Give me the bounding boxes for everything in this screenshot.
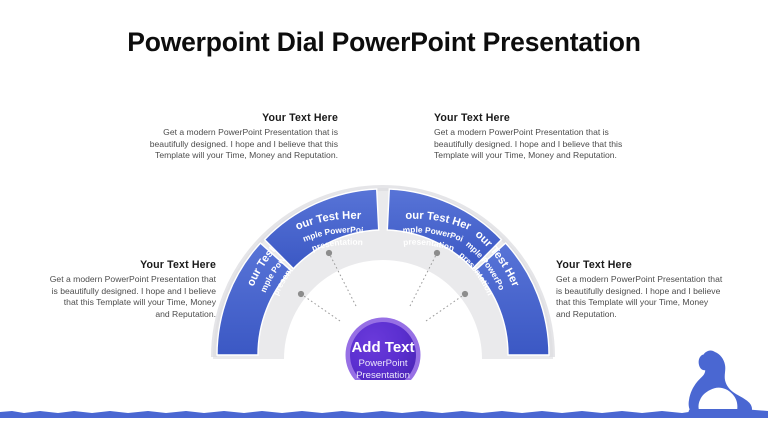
callout-top-right-title: Your Text Here	[434, 112, 629, 124]
connector-line-4	[426, 294, 465, 321]
callout-bottom-right-body: Get a modern PowerPoint Presentation tha…	[556, 274, 724, 320]
callout-top-left[interactable]: Your Text Here Get a modern PowerPoint P…	[143, 112, 338, 162]
connector-dot-1	[298, 291, 304, 297]
hub-sub-label-line1: PowerPoint	[358, 358, 407, 369]
callout-bottom-left-title: Your Text Here	[48, 259, 216, 271]
ground-line	[0, 405, 768, 417]
callout-bottom-left[interactable]: Your Text Here Get a modern PowerPoint P…	[48, 259, 216, 320]
hub-sub-label-line2: Presentation	[356, 370, 410, 380]
connector-dot-2	[326, 250, 332, 256]
dial-diagram: Your Test Here Simple PowerPoint present…	[204, 180, 564, 380]
connector-line-1	[301, 294, 340, 321]
callout-top-right-body: Get a modern PowerPoint Presentation tha…	[434, 127, 629, 162]
slide-canvas: Powerpoint Dial PowerPoint Presentation …	[0, 0, 768, 432]
callout-top-left-title: Your Text Here	[143, 112, 338, 124]
connector-dot-4	[462, 291, 468, 297]
callout-bottom-right-title: Your Text Here	[556, 259, 724, 271]
hub-main-label: Add Text	[351, 339, 414, 356]
callout-bottom-left-body: Get a modern PowerPoint Presentation tha…	[48, 274, 216, 320]
callout-top-left-body: Get a modern PowerPoint Presentation tha…	[143, 127, 338, 162]
connector-dot-3	[434, 250, 440, 256]
callout-top-right[interactable]: Your Text Here Get a modern PowerPoint P…	[434, 112, 629, 162]
callout-bottom-right[interactable]: Your Text Here Get a modern PowerPoint P…	[556, 259, 724, 320]
page-title: Powerpoint Dial PowerPoint Presentation	[0, 27, 768, 58]
dial-hub[interactable]: Add Text PowerPoint Presentation	[346, 318, 421, 381]
